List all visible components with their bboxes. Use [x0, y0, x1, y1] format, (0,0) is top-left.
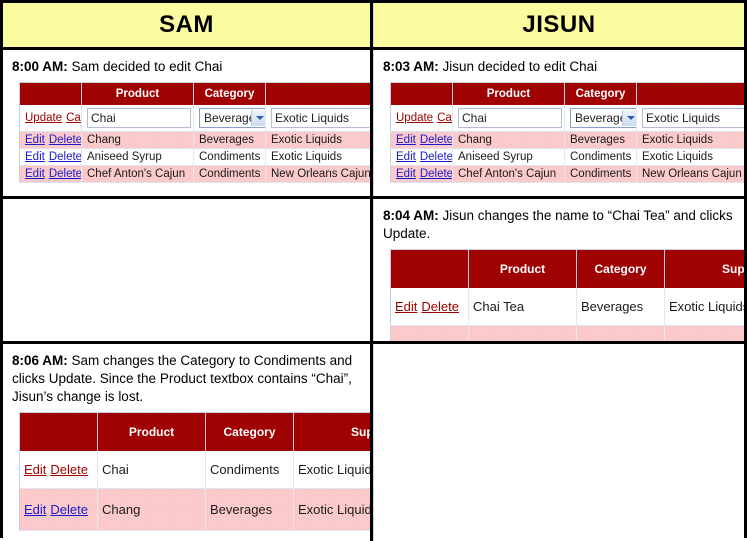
timestamp: 8:04 AM:	[383, 208, 439, 223]
gridview-edit-row: UpdateCancel Beverages	[391, 105, 745, 132]
row-actions: EditDelete	[391, 165, 453, 182]
edit-link[interactable]: Edit	[396, 151, 416, 163]
delete-link[interactable]: Delete	[50, 502, 88, 517]
supplier-cell: Exotic Liquids	[637, 148, 745, 165]
row-actions: EditDelete	[20, 488, 98, 530]
cell-jisun-0803: 8:03 AM: Jisun decided to edit Chai Prod…	[373, 50, 744, 196]
table-row: EditDelete Chang Beverages Exotic Liquid…	[391, 131, 745, 148]
category-cell-edit: Beverages	[565, 105, 637, 132]
col-actions	[20, 412, 98, 451]
product-cell-edit	[453, 105, 565, 132]
category-cell: Beverages	[194, 131, 266, 148]
timeline-grid: 8:00 AM: Sam decided to edit Chai Produc…	[3, 50, 744, 535]
col-product: Product	[82, 82, 194, 105]
row-actions: EditDelete	[20, 165, 82, 182]
supplier-cell: New Orleans Cajun Delights	[266, 165, 374, 182]
category-cell: Condiments	[206, 451, 294, 489]
caption-sam-0800: 8:00 AM: Sam decided to edit Chai	[12, 58, 362, 76]
header-jisun: JISUN	[373, 3, 744, 47]
timestamp: 8:00 AM:	[12, 59, 68, 74]
caption-text: Jisun decided to edit Chai	[439, 59, 597, 74]
edit-link[interactable]: Edit	[396, 168, 416, 180]
cancel-link[interactable]: Cancel	[66, 112, 81, 124]
row-actions: EditDelete	[391, 288, 469, 326]
edit-link[interactable]: Edit	[25, 168, 45, 180]
cancel-link[interactable]: Cancel	[437, 112, 452, 124]
supplier-input[interactable]	[642, 108, 744, 128]
delete-link[interactable]: Delete	[420, 134, 453, 146]
col-supplier: Supplier	[266, 82, 374, 105]
caption-jisun-0803: 8:03 AM: Jisun decided to edit Chai	[383, 58, 736, 76]
cell-sam-empty-1	[3, 199, 373, 341]
product-cell: Chang	[98, 488, 206, 530]
product-cell: Chef Anton's Cajun	[82, 165, 194, 182]
category-cell: Condiments	[565, 148, 637, 165]
table-row: EditDelete Chang Beverages Exotic Liquid…	[391, 325, 745, 341]
edit-link[interactable]: Edit	[24, 502, 46, 517]
product-cell: Chai Tea	[469, 288, 577, 326]
timeline-row-1: 8:00 AM: Sam decided to edit Chai Produc…	[3, 50, 744, 196]
category-cell: Condiments	[194, 165, 266, 182]
supplier-cell: New Orleans Cajun Delights	[637, 165, 745, 182]
edit-link[interactable]: Edit	[25, 134, 45, 146]
product-input[interactable]	[87, 108, 191, 128]
gridview-header-row: Product Category Supplier	[391, 82, 745, 105]
col-actions	[20, 82, 82, 105]
row-actions: EditDelete	[20, 451, 98, 489]
caption-jisun-0804: 8:04 AM: Jisun changes the name to “Chai…	[383, 207, 736, 243]
supplier-cell: Exotic Liquids	[665, 325, 745, 341]
table-row: EditDelete Chai Condiments Exotic Liquid…	[20, 451, 374, 489]
row-actions: EditDelete	[391, 131, 453, 148]
products-gridview: Product Category Supplier EditDelete Cha…	[390, 249, 744, 341]
product-cell: Aniseed Syrup	[453, 148, 565, 165]
category-select[interactable]: Beverages	[570, 108, 637, 128]
column-headers: SAM JISUN	[3, 3, 744, 47]
product-cell: Aniseed Syrup	[82, 148, 194, 165]
product-cell: Chef Anton's Cajun	[453, 165, 565, 182]
edit-link[interactable]: Edit	[395, 339, 417, 341]
gridview-edit-row: UpdateCancel Beverages	[20, 105, 374, 132]
product-input[interactable]	[458, 108, 562, 128]
col-supplier: Supplier	[665, 249, 745, 288]
table-row: EditDelete Chai Tea Beverages Exotic Liq…	[391, 288, 745, 326]
delete-link[interactable]: Delete	[420, 168, 453, 180]
products-gridview: Product Category Supplier EditDelete Cha…	[19, 412, 373, 531]
delete-link[interactable]: Delete	[49, 168, 82, 180]
category-cell: Condiments	[565, 165, 637, 182]
product-cell: Chang	[82, 131, 194, 148]
supplier-cell: Exotic Liquids	[294, 451, 374, 489]
supplier-cell: Exotic Liquids	[294, 488, 374, 530]
category-select[interactable]: Beverages	[199, 108, 266, 128]
edit-link[interactable]: Edit	[25, 151, 45, 163]
col-product: Product	[98, 412, 206, 451]
edit-link[interactable]: Edit	[396, 134, 416, 146]
col-product: Product	[469, 249, 577, 288]
chevron-down-icon[interactable]	[622, 110, 637, 126]
cell-jisun-0804: 8:04 AM: Jisun changes the name to “Chai…	[373, 199, 744, 341]
col-category: Category	[577, 249, 665, 288]
timestamp: 8:06 AM:	[12, 353, 68, 368]
products-gridview: Product Category Supplier UpdateCancel	[19, 82, 373, 183]
table-row: EditDelete Chef Anton's Cajun Condiments…	[20, 165, 374, 182]
timestamp: 8:03 AM:	[383, 59, 439, 74]
col-category: Category	[206, 412, 294, 451]
col-supplier: Supplier	[294, 412, 374, 451]
supplier-cell-edit	[637, 105, 745, 132]
row-actions: EditDelete	[20, 131, 82, 148]
category-cell-edit: Beverages	[194, 105, 266, 132]
update-link[interactable]: Update	[396, 112, 433, 124]
delete-link[interactable]: Delete	[420, 151, 453, 163]
category-cell: Beverages	[577, 325, 665, 341]
update-link[interactable]: Update	[25, 112, 62, 124]
row-actions: EditDelete	[20, 148, 82, 165]
caption-sam-0806: 8:06 AM: Sam changes the Category to Con…	[12, 352, 362, 406]
col-actions	[391, 82, 453, 105]
supplier-cell: Exotic Liquids	[266, 131, 374, 148]
product-cell: Chang	[453, 131, 565, 148]
table-row: EditDelete Chef Anton's Cajun Condiments…	[391, 165, 745, 182]
delete-link[interactable]: Delete	[50, 462, 88, 477]
gridview-header-row: Product Category Supplier	[391, 249, 745, 288]
delete-link[interactable]: Delete	[49, 151, 82, 163]
product-cell: Chang	[469, 325, 577, 341]
product-cell: Chai	[98, 451, 206, 489]
col-actions	[391, 249, 469, 288]
cell-sam-0806: 8:06 AM: Sam changes the Category to Con…	[3, 344, 373, 541]
delete-link[interactable]: Delete	[49, 134, 82, 146]
table-row: EditDelete Chang Beverages Exotic Liquid…	[20, 131, 374, 148]
cell-sam-0800: 8:00 AM: Sam decided to edit Chai Produc…	[3, 50, 373, 196]
chevron-down-icon[interactable]	[251, 110, 266, 126]
row-actions: EditDelete	[391, 325, 469, 341]
header-sam: SAM	[3, 3, 373, 47]
col-category: Category	[194, 82, 266, 105]
category-cell: Beverages	[565, 131, 637, 148]
gridview-header-row: Product Category Supplier	[20, 82, 374, 105]
row-actions: UpdateCancel	[391, 105, 453, 132]
delete-link[interactable]: Delete	[421, 339, 459, 341]
table-row: EditDelete Aniseed Syrup Condiments Exot…	[20, 148, 374, 165]
row-actions: EditDelete	[391, 148, 453, 165]
category-cell: Beverages	[206, 488, 294, 530]
row-actions: UpdateCancel	[20, 105, 82, 132]
supplier-input[interactable]	[271, 108, 373, 128]
cell-jisun-empty-1	[373, 344, 744, 541]
products-gridview: Product Category Supplier UpdateCancel	[390, 82, 744, 183]
edit-link[interactable]: Edit	[395, 299, 417, 314]
gridview-header-row: Product Category Supplier	[20, 412, 374, 451]
category-cell: Condiments	[194, 148, 266, 165]
table-row: EditDelete Aniseed Syrup Condiments Exot…	[391, 148, 745, 165]
product-cell-edit	[82, 105, 194, 132]
table-row: EditDelete Chang Beverages Exotic Liquid…	[20, 488, 374, 530]
category-cell: Beverages	[577, 288, 665, 326]
col-supplier: Supplier	[637, 82, 745, 105]
col-product: Product	[453, 82, 565, 105]
col-category: Category	[565, 82, 637, 105]
supplier-cell-edit	[266, 105, 374, 132]
timeline-row-3: 8:06 AM: Sam changes the Category to Con…	[3, 344, 744, 541]
supplier-cell: Exotic Liquids	[637, 131, 745, 148]
supplier-cell: Exotic Liquids	[665, 288, 745, 326]
supplier-cell: Exotic Liquids	[266, 148, 374, 165]
edit-link[interactable]: Edit	[24, 462, 46, 477]
diagram-frame: SAM JISUN 8:00 AM: Sam decided to edit C…	[0, 0, 747, 538]
timeline-row-2: 8:04 AM: Jisun changes the name to “Chai…	[3, 199, 744, 341]
caption-text: Sam decided to edit Chai	[68, 59, 223, 74]
delete-link[interactable]: Delete	[421, 299, 459, 314]
